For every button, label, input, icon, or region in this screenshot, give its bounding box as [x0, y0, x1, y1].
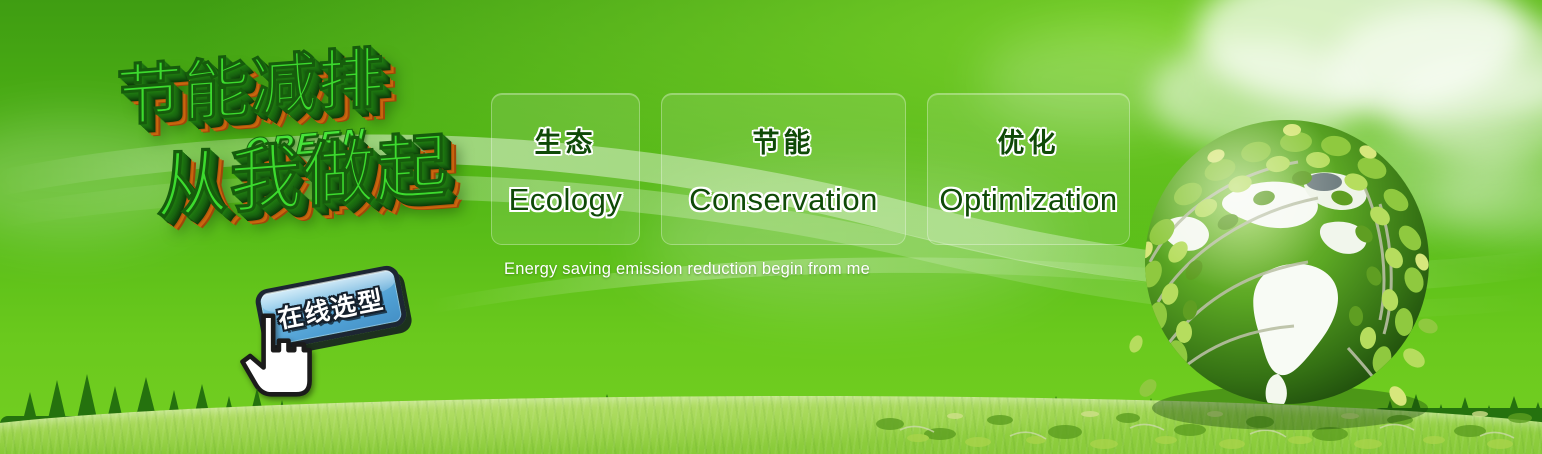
logo-line-bottom: 从我做起	[156, 107, 449, 233]
feature-card-en-label: Optimization	[939, 182, 1117, 218]
feature-card-optimization[interactable]: 优化 Optimization	[927, 93, 1130, 245]
feature-card-en-label: Ecology	[509, 182, 623, 218]
feature-card-conservation[interactable]: 节能 Conservation	[661, 93, 906, 245]
hand-pointer-icon	[238, 310, 316, 402]
feature-card-cn-label: 优化	[998, 121, 1060, 160]
cloud-icon	[1430, 150, 1542, 240]
feature-card-cn-label: 生态	[535, 121, 597, 160]
cloud-icon	[1195, 0, 1525, 110]
feature-card-cn-label: 节能	[753, 121, 815, 160]
logo-3d-text: 节能减排 GREEN 从我做起	[100, 36, 490, 266]
feature-card-en-label: Conservation	[689, 182, 878, 218]
feature-card-list: 生态 Ecology 节能 Conservation 优化 Optimizati…	[491, 93, 1130, 245]
leafy-earth-globe-icon	[1128, 112, 1446, 430]
cloud-icon	[1330, 6, 1542, 126]
banner-tagline: Energy saving emission reduction begin f…	[504, 260, 870, 279]
feature-card-ecology[interactable]: 生态 Ecology	[491, 93, 640, 245]
promo-banner: 节能减排 GREEN 从我做起 在线选型 生态 Ecology 节能 Conse…	[0, 0, 1542, 454]
